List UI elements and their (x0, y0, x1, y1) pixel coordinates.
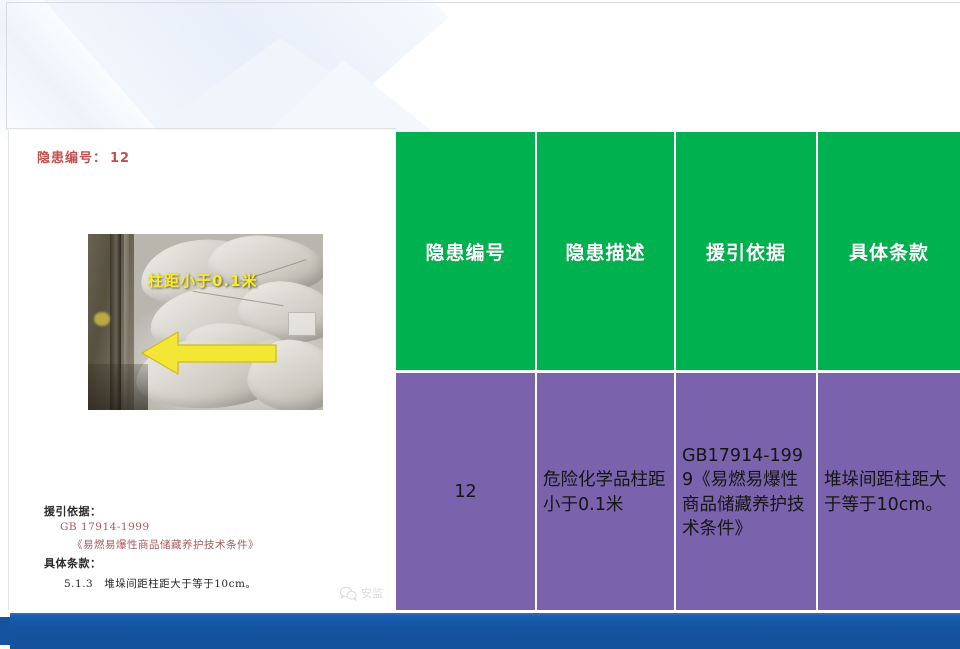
hazard-photo: 柱距小于0.1米 (88, 234, 323, 410)
basis-standard-code: GB 17914-1999 (60, 521, 150, 533)
table-header-description: 隐患描述 (537, 132, 676, 370)
table-header-hazard-no: 隐患编号 (396, 132, 537, 370)
bottom-bar-highlight (0, 613, 960, 615)
cell-hazard-no: 12 (396, 373, 537, 612)
table-row: 12 危险化学品柱距小于0.1米 GB17914-1999《易燃易爆性商品储藏养… (396, 373, 960, 612)
hazard-number-label: 隐患编号： (37, 151, 107, 166)
table-header-basis: 援引依据 (676, 132, 818, 370)
photo-label-tag (288, 312, 316, 336)
hazard-number-heading: 隐患编号：12 (37, 147, 130, 166)
slide-stage: 隐患编号：12 柱距小于0.1米 (0, 0, 960, 649)
photo-annotation-text: 柱距小于0.1米 (148, 270, 258, 291)
cell-basis: GB17914-1999《易燃易爆性商品储藏养护技术条件》 (676, 373, 818, 612)
slide-header-divider (6, 128, 396, 129)
hazard-number-value: 12 (110, 151, 130, 166)
cell-description: 危险化学品柱距小于0.1米 (537, 373, 676, 612)
bottom-bar-left-notch-inner (0, 617, 10, 645)
table-header-row: 隐患编号 隐患描述 援引依据 具体条款 (396, 132, 960, 370)
clause-text: 5.1.3 堆垛间距柱距大于等于10cm。 (64, 576, 256, 591)
photo-yellow-object (94, 312, 110, 326)
slide-top-edge (6, 2, 960, 3)
deco-triangle-secondary (268, 60, 433, 132)
table-header-clause: 具体条款 (818, 132, 960, 370)
basis-standard-title: 《易燃易爆性商品储藏养护技术条件》 (72, 537, 259, 552)
hazard-photo-canvas (88, 234, 323, 410)
hazard-table: 隐患编号 隐患描述 援引依据 具体条款 12 危险化学品柱距小于0.1米 GB1… (396, 132, 960, 612)
deco-triangle (150, 38, 420, 133)
bottom-bar (0, 613, 960, 649)
left-arrow-icon (138, 329, 280, 377)
cell-clause: 堆垛间距柱距大于等于10cm。 (818, 373, 960, 612)
basis-heading: 援引依据： (44, 503, 102, 519)
slide-left-edge (6, 2, 7, 130)
clause-heading: 具体条款： (44, 555, 102, 571)
